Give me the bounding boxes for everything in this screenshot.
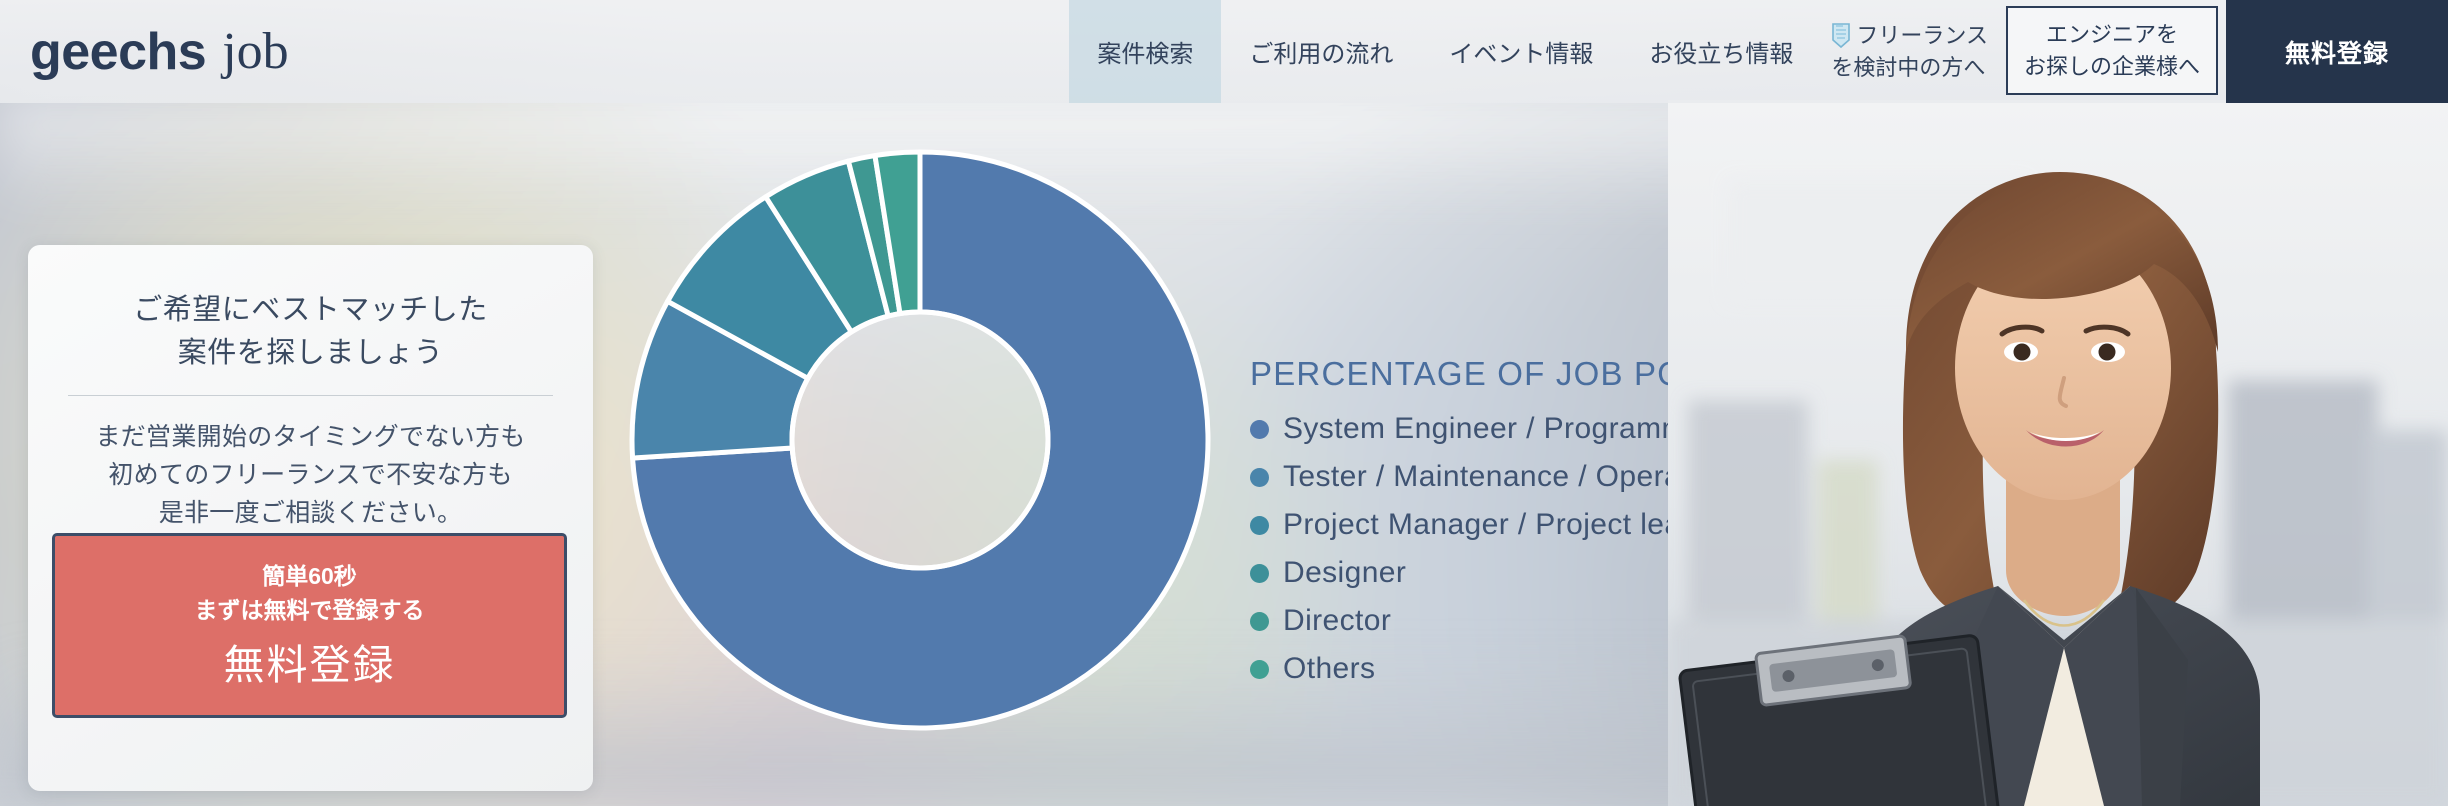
company-box-line2: お探しの企業様へ: [2024, 51, 2200, 82]
card-title-line2: 案件を探しましょう: [64, 332, 557, 375]
card-title: ご希望にベストマッチした 案件を探しましょう: [64, 289, 557, 375]
site-logo[interactable]: geechs job: [0, 0, 289, 103]
nav-item-event-info[interactable]: イベント情報: [1421, 0, 1621, 103]
card-register-button[interactable]: 簡単60秒 まずは無料で登録する 無料登録: [52, 533, 567, 718]
card-subtext: まだ営業開始のタイミングでない方も 初めてのフリーランスで不安な方も 是非一度ご…: [64, 418, 557, 532]
company-box-line1: エンジニアを: [2046, 19, 2178, 50]
cta-line2: まずは無料で登録する: [195, 594, 425, 627]
nav-item-useful-info[interactable]: お役立ち情報: [1621, 0, 1821, 103]
logo-text-secondary: job: [222, 22, 288, 81]
card-divider: [68, 395, 553, 396]
header-register-button[interactable]: 無料登録: [2226, 0, 2448, 103]
legend-label: Others: [1283, 652, 1375, 686]
freelance-link-line1: フリーランス: [1856, 20, 1988, 51]
nav-item-label: 案件検索: [1097, 34, 1193, 69]
primary-navigation: 案件検索 ご利用の流れ イベント情報 お役立ち情報: [1069, 0, 2448, 103]
legend-color-dot: [1250, 420, 1269, 439]
ribbon-icon: [1831, 23, 1851, 49]
legend-label: Tester / Maintenance / Operation: [1283, 460, 1731, 494]
legend-color-dot: [1250, 612, 1269, 631]
cta-line1: 簡単60秒: [262, 560, 357, 593]
cta-line3: 無料登録: [224, 631, 396, 691]
card-sub-line3: 是非一度ご相談ください。: [64, 494, 557, 532]
header-register-label: 無料登録: [2285, 34, 2389, 70]
nav-item-job-search[interactable]: 案件検索: [1069, 0, 1221, 103]
legend-color-dot: [1250, 468, 1269, 487]
legend-label: System Engineer / Programmer: [1283, 412, 1714, 446]
card-sub-line1: まだ営業開始のタイミングでない方も: [64, 418, 557, 456]
legend-label: Designer: [1283, 556, 1406, 590]
nav-item-how-to-use[interactable]: ご利用の流れ: [1221, 0, 1421, 103]
nav-item-for-companies[interactable]: エンジニアを お探しの企業様へ: [2006, 6, 2218, 95]
legend-color-dot: [1250, 516, 1269, 535]
card-title-line1: ご希望にベストマッチした: [64, 289, 557, 332]
legend-label: Director: [1283, 604, 1391, 638]
card-sub-line2: 初めてのフリーランスで不安な方も: [64, 456, 557, 494]
hero-person-photo: [1668, 100, 2448, 806]
job-position-donut-chart: [630, 150, 1210, 730]
hero-info-card: ご希望にベストマッチした 案件を探しましょう まだ営業開始のタイミングでない方も…: [28, 245, 593, 791]
site-header: geechs job 案件検索 ご利用の流れ イベント情報 お役立ち情報: [0, 0, 2448, 103]
freelance-link-line2: を検討中の方へ: [1831, 52, 1988, 83]
landing-page: geechs job 案件検索 ご利用の流れ イベント情報 お役立ち情報: [0, 0, 2448, 806]
legend-color-dot: [1250, 660, 1269, 679]
nav-item-freelance-consideration[interactable]: フリーランス を検討中の方へ: [1821, 0, 2002, 103]
logo-text-primary: geechs: [30, 22, 206, 82]
legend-color-dot: [1250, 564, 1269, 583]
nav-item-label: イベント情報: [1449, 34, 1593, 69]
nav-item-label: ご利用の流れ: [1249, 34, 1393, 69]
legend-label: Project Manager / Project leader: [1283, 508, 1726, 542]
nav-item-label: お役立ち情報: [1649, 34, 1793, 69]
